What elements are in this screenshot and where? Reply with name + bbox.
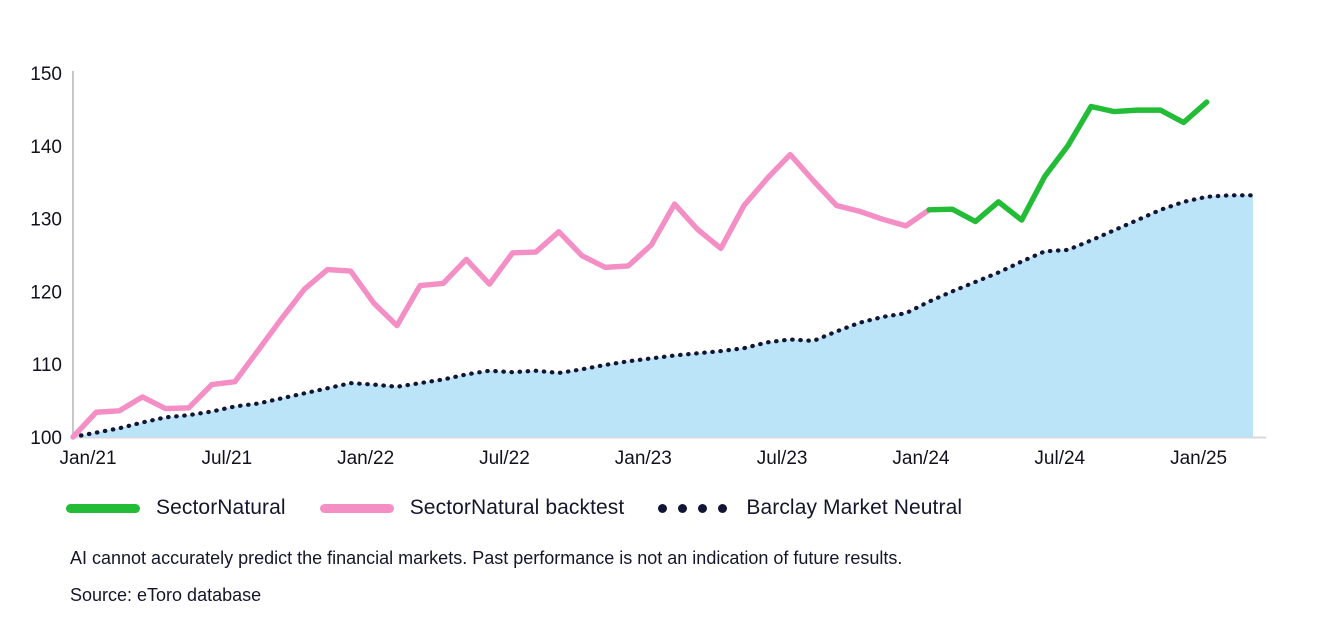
x-tick-Jan-23: Jan/23: [615, 448, 672, 469]
legend-swatch-pink-line: [320, 504, 394, 513]
legend-swatch-green-line: [66, 504, 140, 513]
y-tick-130: 130: [30, 210, 62, 231]
y-tick-150: 150: [30, 64, 62, 85]
chart-canvas: 100110120130140150 Jan/21Jul/21Jan/22Jul…: [0, 0, 1317, 480]
source-text: Source: eToro database: [70, 586, 1250, 604]
x-tick-Jul-22: Jul/22: [479, 448, 530, 469]
legend-swatch-navy-dotted: [658, 503, 732, 513]
y-tick-140: 140: [30, 137, 62, 158]
y-tick-110: 110: [32, 355, 62, 376]
chart-footnotes: AI cannot accurately predict the financi…: [70, 549, 1250, 604]
barclay-market-neutral-area: [73, 195, 1253, 437]
x-tick-Jan-25: Jan/25: [1170, 448, 1227, 469]
performance-line-chart: 100110120130140150 Jan/21Jul/21Jan/22Jul…: [0, 0, 1317, 480]
legend-item-barclay-market-neutral[interactable]: Barclay Market Neutral: [658, 496, 962, 520]
legend-label-barclay-market-neutral: Barclay Market Neutral: [746, 496, 962, 520]
x-tick-Jul-23: Jul/23: [757, 448, 808, 469]
x-tick-Jan-22: Jan/22: [337, 448, 394, 469]
legend-item-sectornatural[interactable]: SectorNatural: [66, 496, 286, 520]
x-tick-Jul-24: Jul/24: [1034, 448, 1085, 469]
chart-legend: SectorNatural SectorNatural backtest Bar…: [66, 496, 962, 520]
x-tick-Jan-24: Jan/24: [892, 448, 949, 469]
y-tick-120: 120: [30, 282, 62, 303]
y-axis-tick-labels: 100110120130140150: [30, 64, 62, 449]
legend-item-sectornatural-backtest[interactable]: SectorNatural backtest: [320, 496, 625, 520]
chart-page: 100110120130140150 Jan/21Jul/21Jan/22Jul…: [0, 0, 1317, 635]
x-tick-Jan-21: Jan/21: [59, 448, 116, 469]
disclaimer-text: AI cannot accurately predict the financi…: [70, 549, 1250, 567]
y-tick-100: 100: [30, 428, 62, 449]
legend-label-sectornatural-backtest: SectorNatural backtest: [410, 496, 625, 520]
sectornatural-line: [929, 102, 1207, 221]
legend-label-sectornatural: SectorNatural: [156, 496, 286, 520]
x-tick-Jul-21: Jul/21: [201, 448, 252, 469]
x-axis-tick-labels: Jan/21Jul/21Jan/22Jul/22Jan/23Jul/23Jan/…: [59, 448, 1227, 469]
